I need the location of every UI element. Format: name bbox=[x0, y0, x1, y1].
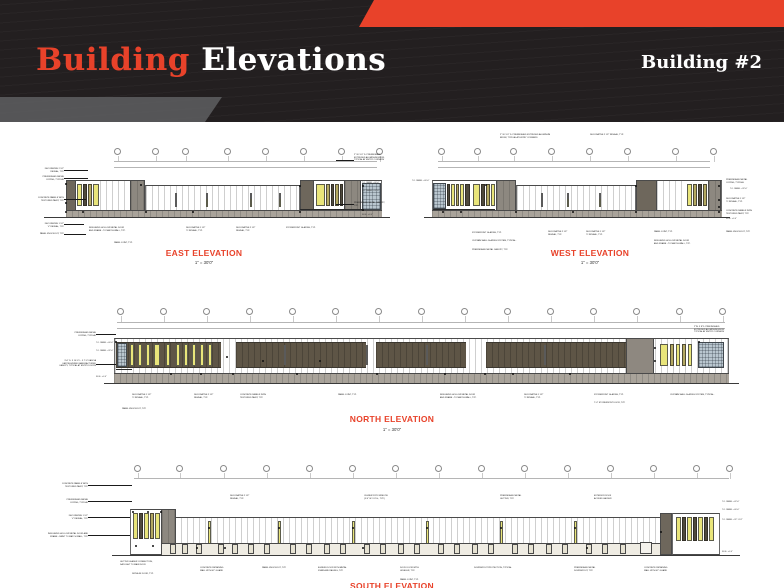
east-building-body bbox=[52, 175, 382, 217]
storefront-glazing bbox=[208, 344, 212, 366]
grid-bubble bbox=[338, 148, 345, 155]
storefront-glazing bbox=[660, 344, 668, 366]
storefront-glazing bbox=[486, 184, 490, 206]
grid-bubble bbox=[693, 465, 700, 472]
clerestory-window bbox=[206, 199, 208, 207]
leader-dot bbox=[460, 211, 462, 213]
note-south-bottom-5: DOCK DOOR WITH LEVELER, TYP. bbox=[400, 567, 444, 572]
elevation-title-west: WEST ELEVATION bbox=[400, 248, 780, 258]
note-south-bottom-7: DOWNSPOUT PROTECTION, TYPICAL bbox=[474, 567, 534, 570]
leader-dot bbox=[512, 373, 514, 375]
storefront-glazing bbox=[130, 344, 134, 366]
note-west-bottom-1: CURTAIN WALL GLAZING SYSTEM, TYPICAL. bbox=[472, 240, 534, 243]
storefront-glazing bbox=[460, 184, 464, 206]
leader-dot bbox=[296, 373, 298, 375]
dock-door bbox=[264, 544, 270, 554]
storefront-glazing bbox=[133, 513, 138, 539]
grid-bubble bbox=[672, 148, 679, 155]
leader-dot bbox=[65, 183, 67, 185]
elevation-title-east: EAST ELEVATION bbox=[14, 248, 394, 258]
leader-dot bbox=[574, 527, 576, 529]
leader-dot bbox=[299, 211, 301, 213]
storefront-glazing bbox=[481, 184, 485, 206]
leader-dot bbox=[515, 211, 517, 213]
dock-door bbox=[472, 544, 478, 554]
elevation-scale-east: 1" = 30'0" bbox=[14, 260, 394, 265]
storefront-glazing bbox=[465, 184, 470, 206]
leader-dot bbox=[135, 545, 137, 547]
storefront-glazing bbox=[447, 184, 450, 206]
note-south-bottom-9: CONCRETE RETAINING WALL WITH 42" GUARD bbox=[644, 567, 692, 572]
ground-line bbox=[424, 217, 730, 218]
leader-dot bbox=[147, 511, 149, 513]
ground-line bbox=[104, 383, 739, 384]
elevation-title-north: NORTH ELEVATION bbox=[22, 414, 762, 424]
leader-dot bbox=[208, 527, 210, 529]
header-gray-accent-bar bbox=[0, 97, 222, 122]
level-mark: F.F.E. +0'-0" bbox=[96, 376, 107, 378]
leader-line bbox=[88, 485, 132, 486]
leader-dot bbox=[500, 527, 502, 529]
dock-door bbox=[324, 544, 330, 554]
note-west-top-0: 2" W. X 8" D. PREFINISHED EXTRUDED ALUMI… bbox=[500, 134, 576, 139]
note-north-bottom-4: PANEL JOINT, TYP. bbox=[338, 394, 378, 397]
level-mark: T.O. PANEL +40'-0" bbox=[722, 509, 739, 511]
storefront-glazing bbox=[150, 513, 154, 539]
note-north-bottom-5: INSULATED HOLLOW METAL DOOR AND FRAME - … bbox=[440, 394, 504, 399]
leader-dot bbox=[362, 185, 364, 187]
dock-door bbox=[512, 544, 518, 554]
dock-door bbox=[290, 544, 296, 554]
leader-dot bbox=[192, 211, 194, 213]
leader-dot bbox=[226, 356, 228, 358]
grid-bubble bbox=[114, 148, 121, 155]
storefront-glazing bbox=[340, 184, 343, 206]
storefront-glazing bbox=[316, 184, 325, 206]
base-panel-strip bbox=[66, 210, 382, 217]
note-west-right-0: PREFINISHED METAL COPING, TYPICAL bbox=[726, 179, 774, 184]
note-south-left-3: INSULATED HOLLOW METAL DOOR AND FRAME - … bbox=[22, 533, 88, 538]
note-south-bottom-0: GUTTER LEADER CONNECTION, DAYLIGHT TO MA… bbox=[120, 561, 178, 566]
leader-dot bbox=[115, 341, 117, 343]
note-north-right-0: 2"W. X 8"D. PREFINISHED EXTRUDED ALUMINU… bbox=[694, 326, 750, 334]
dimension-line bbox=[134, 478, 729, 479]
leader-dot bbox=[362, 209, 364, 211]
leader-dot bbox=[232, 373, 234, 375]
grid-bubble bbox=[224, 148, 231, 155]
leader-line bbox=[96, 334, 116, 335]
leader-line bbox=[64, 234, 86, 235]
note-west-right-1: DECORATIVE 1 1/2" 'V' REVEAL, TYP. bbox=[726, 198, 774, 203]
note-south-bottom-8: PREFINISHED METAL DOWNSPOUT, TYP. bbox=[574, 567, 622, 572]
note-north-bottom-7: STOREFRONT GLAZING, TYP. bbox=[594, 394, 644, 397]
curtain-wall-glazing bbox=[433, 183, 446, 209]
storefront-glazing bbox=[176, 344, 180, 366]
note-east-left-1: PREFINISHED METAL COPING, TYPICAL bbox=[14, 176, 64, 181]
leader-dot bbox=[718, 185, 720, 187]
dock-door bbox=[414, 544, 420, 554]
clerestory-window bbox=[366, 345, 368, 365]
leader-dot bbox=[586, 547, 588, 549]
grid-bubble bbox=[332, 308, 339, 315]
note-south-bottom-4: EGRESS DOOR WITH METAL STAIR AND RAILING… bbox=[318, 567, 372, 572]
grid-bubble bbox=[676, 308, 683, 315]
grid-bubble bbox=[134, 465, 141, 472]
dock-door bbox=[562, 544, 568, 554]
note-south-left-0: CONCRETE PANELS WITH TEXTURED PAINT, TYP… bbox=[32, 483, 88, 488]
note-west-top-1: DECORATIVE 2 1/2" REVEAL, TYP. bbox=[590, 134, 652, 137]
storefront-glazing bbox=[698, 517, 703, 541]
west-building-body bbox=[432, 175, 722, 217]
elevation-east: DECORATIVE 2 1/2" REVEAL, TYP. PREFINISH… bbox=[14, 130, 394, 270]
dimension-line bbox=[438, 161, 710, 162]
note-north-bottom-0: DECORATIVE 1 1/2" 'V' REVEAL, TYP. bbox=[132, 394, 176, 399]
storefront-glazing bbox=[139, 513, 143, 539]
curtain-wall-glazing bbox=[117, 343, 127, 367]
note-south-bottom-1: DRIVE-IN DOOR, TYP. bbox=[132, 573, 180, 576]
base-panel-strip bbox=[114, 373, 729, 383]
drive-in-door bbox=[640, 542, 652, 554]
grid-bubble bbox=[375, 308, 382, 315]
leader-dot bbox=[160, 511, 162, 513]
panel-band-textured bbox=[236, 342, 366, 368]
storefront-glazing bbox=[703, 184, 707, 206]
storefront-glazing bbox=[88, 184, 92, 206]
grid-bubble bbox=[590, 308, 597, 315]
leader-dot bbox=[132, 511, 134, 513]
grid-bubble bbox=[176, 465, 183, 472]
storefront-glazing bbox=[335, 184, 339, 206]
storefront-glazing bbox=[676, 344, 680, 366]
storefront-glazing bbox=[200, 344, 204, 366]
elevation-north: PREFINISHED METAL COPING, TYPICAL 3'-6" … bbox=[22, 292, 762, 432]
leader-dot bbox=[635, 185, 637, 187]
storefront-glazing bbox=[166, 344, 170, 366]
grid-bubble bbox=[392, 465, 399, 472]
storefront-glazing bbox=[154, 344, 160, 366]
storefront-glazing bbox=[138, 344, 142, 366]
note-north-bottom-6: DECORATIVE 1 1/2" 'V' REVEAL, TYP. bbox=[524, 394, 568, 399]
leader-dot bbox=[654, 347, 656, 349]
note-south-top-0: DECORATIVE 2 1/2" REVEAL, TYP. bbox=[230, 495, 274, 500]
storefront-glazing bbox=[688, 344, 692, 366]
note-south-bottom-2: CONCRETE RETAINING WALL WITH 42" GUARD bbox=[200, 567, 248, 572]
dimension-line bbox=[438, 167, 710, 168]
grid-bubble bbox=[435, 465, 442, 472]
note-east-left-3: DECORATIVE 1 1/2" 'V' REVEAL, TYP. bbox=[14, 223, 64, 228]
dimension-line bbox=[117, 328, 725, 329]
grid-bubble bbox=[719, 308, 726, 315]
cantilevered-canopy bbox=[116, 369, 132, 370]
grid-bubble bbox=[504, 308, 511, 315]
leader-dot bbox=[224, 547, 226, 549]
page-title-main: Elevations bbox=[190, 42, 386, 78]
storefront-glazing bbox=[473, 184, 480, 206]
clerestory-window bbox=[567, 199, 569, 207]
storefront-glazing bbox=[77, 184, 82, 206]
leader-dot bbox=[152, 545, 154, 547]
leader-dot bbox=[654, 360, 656, 362]
leader-line bbox=[88, 517, 130, 518]
page-title: Building Elevations bbox=[36, 42, 386, 78]
leader-dot bbox=[569, 373, 571, 375]
leader-dot bbox=[718, 211, 720, 213]
grid-bubble bbox=[461, 308, 468, 315]
grid-bubble bbox=[586, 148, 593, 155]
concrete-panel-block bbox=[660, 513, 672, 555]
level-mark: T.O. PANEL +40'-0" bbox=[96, 342, 113, 344]
elevation-west: 2" W. X 8" D. PREFINISHED EXTRUDED ALUMI… bbox=[400, 130, 780, 270]
leader-dot bbox=[200, 373, 202, 375]
note-north-bottom-9: CURTAIN WALL GLAZING SYSTEM, TYPICAL. bbox=[670, 394, 740, 397]
prefinished-metal-canopy bbox=[300, 209, 362, 210]
leader-dot bbox=[362, 547, 364, 549]
dock-door bbox=[218, 544, 224, 554]
leader-dot bbox=[319, 360, 321, 362]
leader-line bbox=[64, 224, 84, 225]
leader-dot bbox=[65, 211, 67, 213]
dock-door bbox=[454, 544, 460, 554]
header-red-accent-bar bbox=[359, 0, 784, 27]
grid-bubble bbox=[547, 308, 554, 315]
grid-bubble bbox=[160, 308, 167, 315]
level-mark: T.O. PANEL +32'-0" bbox=[730, 188, 747, 190]
dock-door bbox=[586, 544, 592, 554]
leader-line bbox=[64, 170, 88, 171]
clerestory-window bbox=[284, 345, 286, 365]
leader-dot bbox=[635, 211, 637, 213]
note-south-left-1: PREFINISHED METAL COPING, TYPICAL bbox=[32, 499, 88, 504]
dimension-line bbox=[114, 167, 377, 168]
leader-dot bbox=[299, 185, 301, 187]
note-east-right-0: 2" W. X 8" D. PREFINISHED EXTRUDED ALUMI… bbox=[354, 154, 398, 162]
grid-bubble bbox=[203, 308, 210, 315]
dock-door bbox=[340, 544, 346, 554]
grid-bubble bbox=[306, 465, 313, 472]
building-label: Building #2 bbox=[641, 52, 762, 73]
ground-line bbox=[112, 555, 740, 556]
note-south-left-2: DECORATIVE 1 1/2" 'V' REVEAL, TYP. bbox=[32, 515, 88, 520]
note-south-top-1: CLERESTORY WINDOW (3'-4" W. X 8' H., TYP… bbox=[364, 495, 416, 500]
clerestory-window bbox=[426, 345, 428, 365]
leader-dot bbox=[262, 360, 264, 362]
ground-line bbox=[44, 217, 390, 218]
leader-line bbox=[88, 535, 130, 536]
grid-bubble bbox=[418, 308, 425, 315]
dock-door bbox=[182, 544, 188, 554]
note-east-bottom-4: STOREFRONT GLAZING, TYP. bbox=[286, 227, 334, 230]
page-title-accent: Building bbox=[36, 42, 190, 78]
dock-door bbox=[196, 544, 202, 554]
dimension-line bbox=[114, 161, 377, 162]
leader-line bbox=[96, 364, 116, 365]
panel-band-textured bbox=[376, 342, 466, 368]
note-north-bottom-2: DECORATIVE 2 1/2" REVEAL, TYP. bbox=[194, 394, 238, 399]
note-east-bottom-0: INSULATED HOLLOW METAL DOOR AND FRAME - … bbox=[89, 227, 151, 232]
clerestory-window bbox=[544, 345, 546, 365]
slide-header: Building Elevations Building #2 bbox=[0, 0, 784, 122]
note-west-bottom-0: STOREFRONT GLAZING, TYP. bbox=[472, 232, 524, 235]
clerestory-window bbox=[541, 193, 543, 207]
storefront-glazing bbox=[83, 184, 87, 206]
note-south-top-3: EXTERIOR ROOF ACCESS LADDER bbox=[594, 495, 640, 500]
grid-bubble bbox=[262, 148, 269, 155]
clerestory-window bbox=[599, 199, 601, 207]
storefront-glazing bbox=[146, 344, 150, 366]
storefront-glazing bbox=[687, 517, 692, 541]
leader-dot bbox=[170, 373, 172, 375]
grid-bubble bbox=[474, 148, 481, 155]
grid-bubble bbox=[349, 465, 356, 472]
level-mark: T.O. PANEL +32' 1 1/2" bbox=[722, 519, 743, 521]
clerestory-window bbox=[250, 199, 252, 207]
clerestory-window bbox=[279, 199, 281, 207]
leader-dot bbox=[698, 341, 700, 343]
storefront-glazing bbox=[491, 184, 495, 206]
dock-door bbox=[620, 544, 626, 554]
note-west-right-3: PANEL KNOCKOUT, TYP. bbox=[726, 231, 774, 234]
level-mark: F.F.E. +0'-0" bbox=[362, 214, 373, 216]
note-west-bottom-4: DECORATIVE 1 1/2" 'V' REVEAL, TYP. bbox=[586, 231, 630, 236]
leader-line bbox=[64, 178, 88, 179]
storefront-glazing bbox=[682, 344, 686, 366]
note-east-bottom-3: DECORATIVE 2 1/2" REVEAL, TYP. bbox=[236, 227, 280, 232]
storefront-glazing bbox=[155, 513, 160, 539]
note-north-bottom-1: PANEL KNOCKOUT, TYP. bbox=[122, 408, 172, 411]
drawing-sheet: DECORATIVE 2 1/2" REVEAL, TYP. PREFINISH… bbox=[0, 122, 784, 588]
storefront-glazing bbox=[451, 184, 455, 206]
dock-door bbox=[398, 544, 404, 554]
dock-door bbox=[528, 544, 534, 554]
slide-page: Building Elevations Building #2 bbox=[0, 0, 784, 588]
grid-bubble bbox=[117, 308, 124, 315]
grid-bubble bbox=[220, 465, 227, 472]
storefront-glazing bbox=[326, 184, 330, 206]
panel-band-textured bbox=[486, 342, 626, 368]
leader-line bbox=[336, 160, 354, 161]
dock-door bbox=[306, 544, 312, 554]
north-building-body bbox=[114, 338, 729, 383]
elevation-title-south: SOUTH ELEVATION bbox=[22, 581, 762, 588]
dock-door bbox=[380, 544, 386, 554]
note-south-top-2: PREFINISHED METAL GUTTER, TYP. bbox=[500, 495, 546, 500]
leader-dot bbox=[278, 527, 280, 529]
grid-bubble bbox=[633, 308, 640, 315]
storefront-glazing bbox=[709, 517, 714, 541]
storefront-glazing bbox=[144, 513, 149, 539]
grid-bubble bbox=[710, 148, 717, 155]
leader-dot bbox=[572, 211, 574, 213]
level-mark: F.F.E. +0'-0" bbox=[722, 551, 733, 553]
grid-bubble bbox=[152, 148, 159, 155]
storefront-glazing bbox=[93, 184, 99, 206]
storefront-glazing bbox=[676, 517, 681, 541]
curtain-wall-glazing bbox=[698, 342, 724, 368]
storefront-glazing bbox=[693, 517, 697, 541]
dock-door bbox=[248, 544, 254, 554]
note-east-bottom-1: PANEL JOINT, TYP. bbox=[114, 242, 164, 245]
dock-door bbox=[364, 544, 370, 554]
note-north-left-0: PREFINISHED METAL COPING, TYPICAL bbox=[42, 332, 96, 337]
note-east-left-2: CONCRETE PANELS WITH TEXTURED PAINT, TYP… bbox=[14, 197, 64, 202]
storefront-glazing bbox=[704, 517, 708, 541]
grid-bubble bbox=[607, 465, 614, 472]
storefront-glazing bbox=[698, 184, 702, 206]
grid-bubble-row-north bbox=[117, 308, 727, 330]
leader-dot bbox=[82, 211, 84, 213]
leader-dot bbox=[426, 527, 428, 529]
grid-bubble bbox=[289, 308, 296, 315]
storefront-glazing bbox=[331, 184, 334, 206]
grid-bubble bbox=[438, 148, 445, 155]
leader-dot bbox=[376, 373, 378, 375]
note-east-right-1: PREFINISHED METAL CANOPY, TYP. bbox=[354, 202, 398, 207]
grid-bubble bbox=[726, 465, 733, 472]
grid-bubble bbox=[510, 148, 517, 155]
leader-dot bbox=[444, 373, 446, 375]
level-mark: T.O. PANEL +42'-0" bbox=[722, 501, 739, 503]
grid-bubble bbox=[650, 465, 657, 472]
note-east-bottom-2: DECORATIVE 1 1/2" 'V' REVEAL, TYP. bbox=[186, 227, 230, 232]
leader-dot bbox=[485, 184, 487, 186]
storefront-glazing bbox=[670, 344, 674, 366]
clerestory-window bbox=[175, 193, 177, 207]
dock-door bbox=[546, 544, 552, 554]
note-east-left-0: DECORATIVE 2 1/2" REVEAL, TYP. bbox=[14, 168, 64, 173]
elevation-scale-west: 1" = 30'0" bbox=[400, 260, 780, 265]
leader-dot bbox=[484, 373, 486, 375]
dimension-line bbox=[117, 322, 725, 323]
note-north-bottom-8: 7'-4" STOREFRONT DOOR, TYP. bbox=[594, 402, 646, 405]
grid-bubble bbox=[246, 308, 253, 315]
grid-bubble bbox=[182, 148, 189, 155]
grid-bubble bbox=[478, 465, 485, 472]
note-west-bottom-5: PANEL JOINT, TYP. bbox=[654, 231, 698, 234]
leader-line bbox=[64, 199, 86, 200]
grid-bubble bbox=[300, 148, 307, 155]
note-north-bottom-3: CONCRETE PANELS WITH TEXTURED PAINT, TYP… bbox=[240, 394, 290, 399]
note-north-left-1: 3'-6" D. X 14'-0" L. X 7'-0" FASCIA CANT… bbox=[32, 360, 96, 368]
leader-dot bbox=[718, 206, 720, 208]
level-mark: T.O. PANEL +40'-0" bbox=[362, 182, 379, 184]
level-mark: T.O. PANEL +32'-0" bbox=[362, 190, 379, 192]
grid-bubble bbox=[548, 148, 555, 155]
dock-door bbox=[232, 544, 238, 554]
dock-door bbox=[438, 544, 444, 554]
base-panel-strip bbox=[432, 210, 722, 217]
level-mark: F.F.E. +0'-0" bbox=[726, 218, 737, 220]
leader-dot bbox=[352, 527, 354, 529]
note-south-bottom-3: PANEL KNOCKOUT, TYP. bbox=[262, 567, 310, 570]
storefront-glazing bbox=[682, 517, 686, 541]
dock-door bbox=[488, 544, 494, 554]
note-east-left-4: PANEL KNOCKOUT, TYP. bbox=[14, 233, 64, 236]
leader-dot bbox=[442, 211, 444, 213]
storefront-glazing bbox=[456, 184, 459, 206]
leader-line bbox=[88, 501, 132, 502]
grid-bubble bbox=[521, 465, 528, 472]
elevation-south: CONCRETE PANELS WITH TEXTURED PAINT, TYP… bbox=[22, 447, 762, 587]
dock-door bbox=[170, 544, 176, 554]
dock-door bbox=[602, 544, 608, 554]
south-building-body bbox=[130, 505, 740, 555]
storefront-glazing bbox=[693, 184, 697, 206]
storefront-glazing bbox=[687, 184, 692, 206]
grid-bubble bbox=[624, 148, 631, 155]
leader-dot bbox=[196, 547, 198, 549]
elevation-scale-north: 1" = 30'0" bbox=[22, 427, 762, 432]
leader-dot bbox=[140, 184, 142, 186]
